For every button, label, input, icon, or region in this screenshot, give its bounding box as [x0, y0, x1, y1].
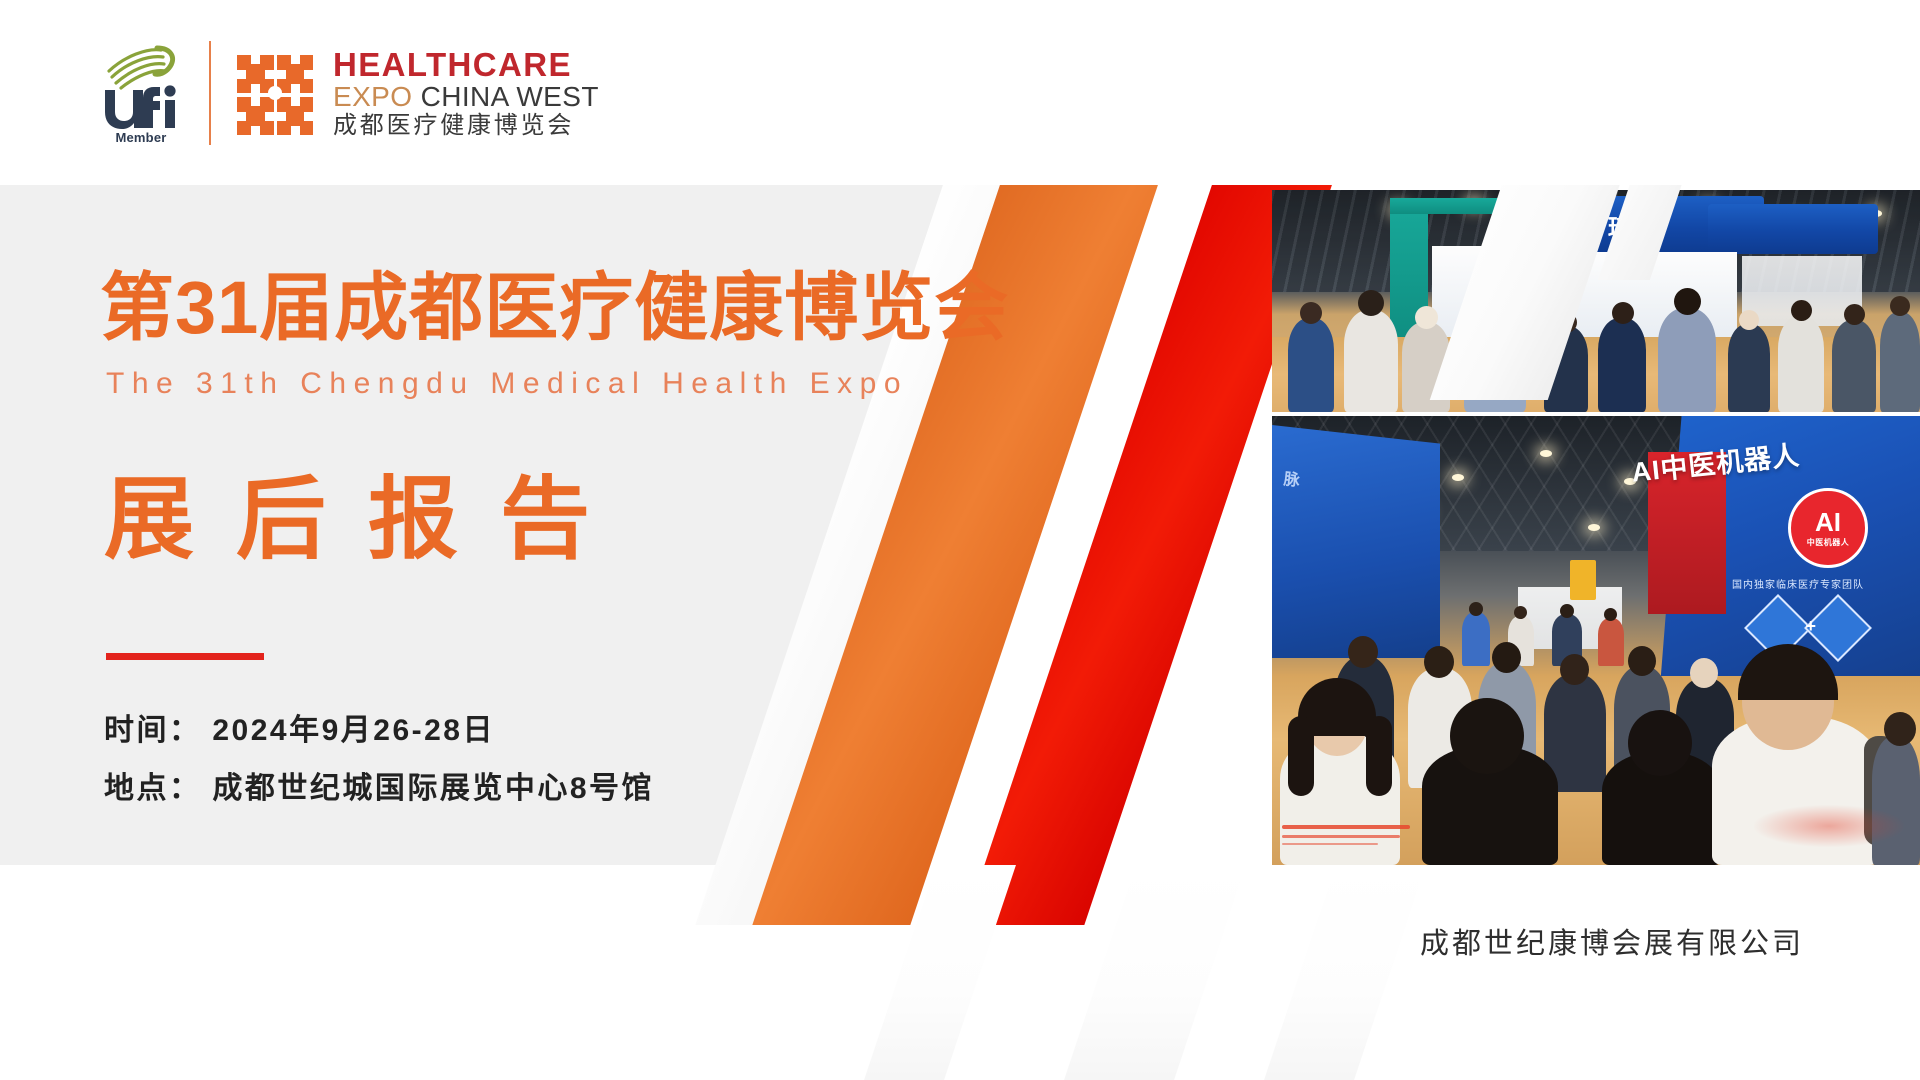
- ufi-member-logo: Member: [95, 38, 187, 148]
- expo-line-healthcare: HEALTHCARE: [333, 48, 599, 81]
- expo-line-expo-china-west: EXPO CHINA WEST: [333, 83, 599, 111]
- page-subtitle-english: The 31th Chengdu Medical Health Expo: [106, 367, 908, 401]
- logo-divider: [209, 41, 211, 145]
- ai-badge: AI 中医机器人: [1788, 488, 1868, 568]
- event-date-line: 时间： 2024年9月26-28日: [104, 705, 495, 749]
- expo-wordmark: HEALTHCARE EXPO CHINA WEST 成都医疗健康博览会: [333, 48, 599, 138]
- ufi-member-label: Member: [95, 130, 187, 145]
- header-logo-bar: Member: [0, 0, 1920, 185]
- event-venue-line: 地点： 成都世纪城国际展览中心8号馆: [104, 763, 654, 807]
- ai-booth-subline: 国内独家临床医疗专家团队: [1732, 576, 1864, 591]
- bottom-white-wedge-middle: [1064, 865, 1246, 1080]
- expo-people-cross-icon: [231, 47, 319, 139]
- exhibition-crowd-aisle-photo: 脉 AI中医机器人 AI 中医机器人 国内独家临床医疗专家团队 +: [1272, 416, 1920, 865]
- expo-line-chinese: 成都医疗健康博览会: [333, 114, 599, 138]
- logo-lockup: Member: [95, 38, 599, 148]
- company-name: 成都世纪康博会展有限公司: [1420, 920, 1804, 962]
- page-title: 第31届成都医疗健康博览会: [100, 271, 1009, 345]
- red-divider-rule: [106, 653, 264, 660]
- photo-stack: QIKE 琦珂 —: [1272, 190, 1920, 865]
- report-headline: 展后报告: [104, 475, 632, 565]
- ai-badge-sub: 中医机器人: [1807, 537, 1850, 548]
- bottom-white-wedge-left: [864, 865, 1016, 1080]
- photo-watermark: [1754, 805, 1904, 847]
- post-show-report-poster: Member: [0, 0, 1920, 1080]
- poster-text-block: 第31届成都医疗健康博览会 The 31th Chengdu Medical H…: [100, 185, 1080, 865]
- expo-word: EXPO: [333, 81, 421, 112]
- ai-badge-main: AI: [1815, 509, 1841, 535]
- ufi-swoosh-icon: [95, 38, 187, 130]
- bottom-white-wedge-right: [1264, 865, 1426, 1080]
- china-west-word: CHINA WEST: [421, 81, 599, 112]
